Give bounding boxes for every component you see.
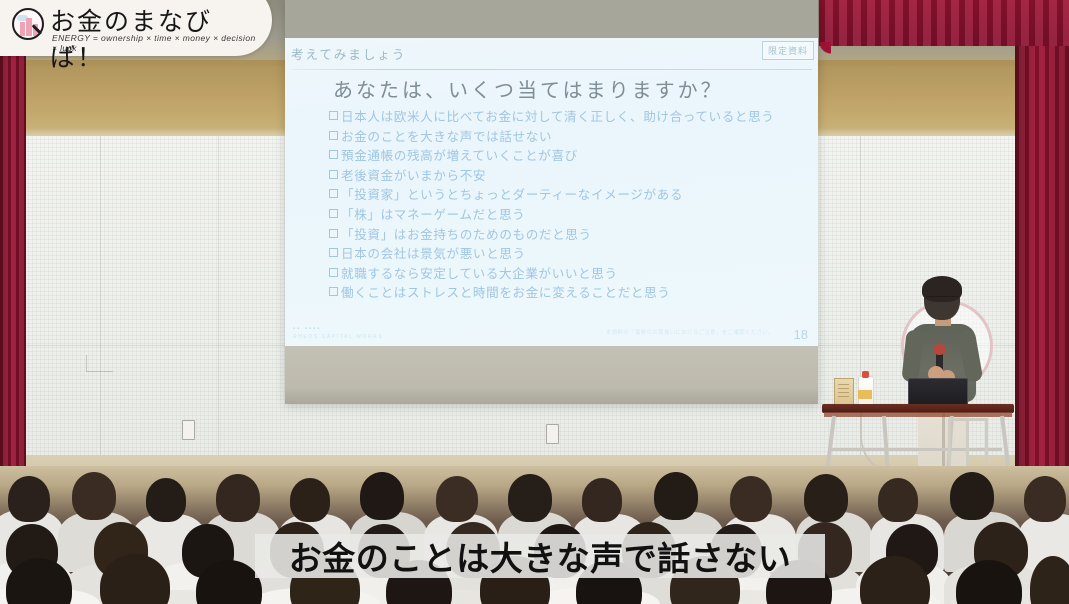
laptop-screen — [908, 378, 968, 407]
audience-head — [1024, 476, 1066, 522]
stage-curtain-right — [1015, 0, 1069, 486]
wall-outlet — [546, 424, 559, 444]
slide-limited-badge: 限定資料 — [762, 41, 814, 60]
channel-logo-bug: お金のまなびば！ ENERGY = ownership × time × mon… — [0, 0, 272, 56]
wall-scuff-mark — [86, 355, 113, 372]
table-edge — [824, 412, 1012, 417]
screen-top-mask — [285, 0, 818, 38]
audience-head — [146, 478, 186, 522]
list-item: 「投資家」というとちょっとダーティーなイメージがある — [329, 186, 804, 206]
building-shape — [26, 18, 32, 36]
audience-head — [582, 478, 622, 522]
list-item-label: 「株」はマネーゲームだと思う — [341, 208, 525, 222]
list-item: 老後資金がいまから不安 — [329, 167, 804, 187]
list-item-label: 「投資」はお金持ちのためのものだと思う — [341, 228, 592, 242]
list-item: 「株」はマネーゲームだと思う — [329, 206, 804, 226]
wall-seam — [218, 136, 219, 476]
checkbox-icon — [329, 111, 338, 120]
audience-head — [436, 476, 478, 522]
checkbox-icon — [329, 248, 338, 257]
list-item-label: 日本人は欧米人に比べてお金に対して清く正しく、助け合っていると思う — [341, 110, 775, 124]
audience-head — [654, 472, 698, 520]
audience-head — [804, 474, 848, 522]
slide-eyebrow: 考えてみましょう — [291, 44, 406, 63]
presentation-slide: 考えてみましょう 限定資料 あなたは、いくつ当てはまりますか？ 日本人は欧米人に… — [285, 38, 818, 346]
list-item: 「投資」はお金持ちのためのものだと思う — [329, 226, 804, 246]
slide-divider — [291, 69, 812, 70]
microphone-head — [933, 344, 946, 355]
audience-head — [878, 478, 918, 522]
checkbox-icon — [329, 287, 338, 296]
list-item-label: 働くことはストレスと時間をお金に変えることだと思う — [341, 286, 670, 300]
list-item: 就職するなら安定している大企業がいいと思う — [329, 265, 804, 285]
list-item-label: 就職するなら安定している大企業がいいと思う — [341, 267, 618, 281]
checkbox-icon — [329, 209, 338, 218]
list-item-label: 預金通帳の残高が増えていくことが喜び — [341, 149, 578, 163]
bottle-cap — [862, 371, 869, 378]
slide-footer-logo-text: RHEOS CAPITAL WORKS — [293, 334, 383, 340]
audience-head — [360, 472, 404, 520]
slide-page-number: 18 — [794, 327, 808, 342]
building-shape — [20, 22, 25, 36]
audience-head — [950, 472, 994, 520]
list-item-label: お金のことを大きな声では話せない — [341, 130, 552, 144]
screen-bottom-mask — [285, 346, 818, 404]
subtitle-text: お金のことは大きな声で話さない — [255, 534, 825, 578]
checkbox-icon — [329, 170, 338, 179]
checkbox-icon — [329, 131, 338, 140]
slide-disclaimer: 本資料の「最後のお取扱いにおけるご注意」をご確認ください。 — [606, 328, 774, 336]
projection-screen: 考えてみましょう 限定資料 あなたは、いくつ当てはまりますか？ 日本人は欧米人に… — [285, 0, 818, 404]
list-item: 預金通帳の残高が増えていくことが喜び — [329, 147, 804, 167]
checkbox-icon — [329, 229, 338, 238]
slide-footer: ▪▪ ▪▪▪▪ RHEOS CAPITAL WORKS 本資料の「最後のお取扱い… — [285, 312, 818, 346]
list-item: 働くことはストレスと時間をお金に変えることだと思う — [329, 284, 804, 304]
slide-title: あなたは、いくつ当てはまりますか？ — [333, 74, 724, 103]
bottle-label — [858, 390, 872, 399]
stage-curtain-left — [0, 0, 26, 486]
checkbox-icon — [329, 150, 338, 159]
glasses-icon — [926, 296, 958, 304]
list-item: お金のことを大きな声では話せない — [329, 128, 804, 148]
magnifier-buildings-icon — [12, 8, 46, 42]
magnifier-lens — [12, 8, 44, 40]
checkbox-icon — [329, 189, 338, 198]
channel-subtitle: ENERGY = ownership × time × money × deci… — [52, 33, 258, 53]
list-item: 日本の会社は景気が悪いと思う — [329, 245, 804, 265]
list-item: 日本人は欧米人に比べてお金に対して清く正しく、助け合っていると思う — [329, 108, 804, 128]
slide-checklist: 日本人は欧米人に比べてお金に対して清く正しく、助け合っていると思う お金のことを… — [329, 108, 804, 304]
slide-footer-logo-mark: ▪▪ ▪▪▪▪ — [293, 326, 383, 332]
audience-head — [508, 474, 552, 522]
audience-head — [290, 478, 330, 522]
wall-seam — [100, 136, 101, 476]
checkbox-icon — [329, 268, 338, 277]
list-item-label: 老後資金がいまから不安 — [341, 169, 486, 183]
list-item-label: 「投資家」というとちょっとダーティーなイメージがある — [341, 188, 683, 202]
video-frame: 考えてみましょう 限定資料 あなたは、いくつ当てはまりますか？ 日本人は欧米人に… — [0, 0, 1069, 604]
audience-head — [216, 474, 260, 522]
list-item-label: 日本の会社は景気が悪いと思う — [341, 247, 526, 261]
wall-outlet — [182, 420, 195, 440]
stage-curtain-valance — [819, 0, 1069, 46]
slide-footer-logo: ▪▪ ▪▪▪▪ RHEOS CAPITAL WORKS — [293, 326, 383, 340]
audience-head — [72, 472, 116, 520]
audience-head — [8, 476, 50, 522]
channel-logo-content: お金のまなびば！ ENERGY = ownership × time × mon… — [12, 6, 258, 50]
wall-seam — [0, 345, 285, 346]
audience-head — [730, 476, 772, 522]
subtitle-band: お金のことは大きな声で話さない — [255, 534, 825, 578]
